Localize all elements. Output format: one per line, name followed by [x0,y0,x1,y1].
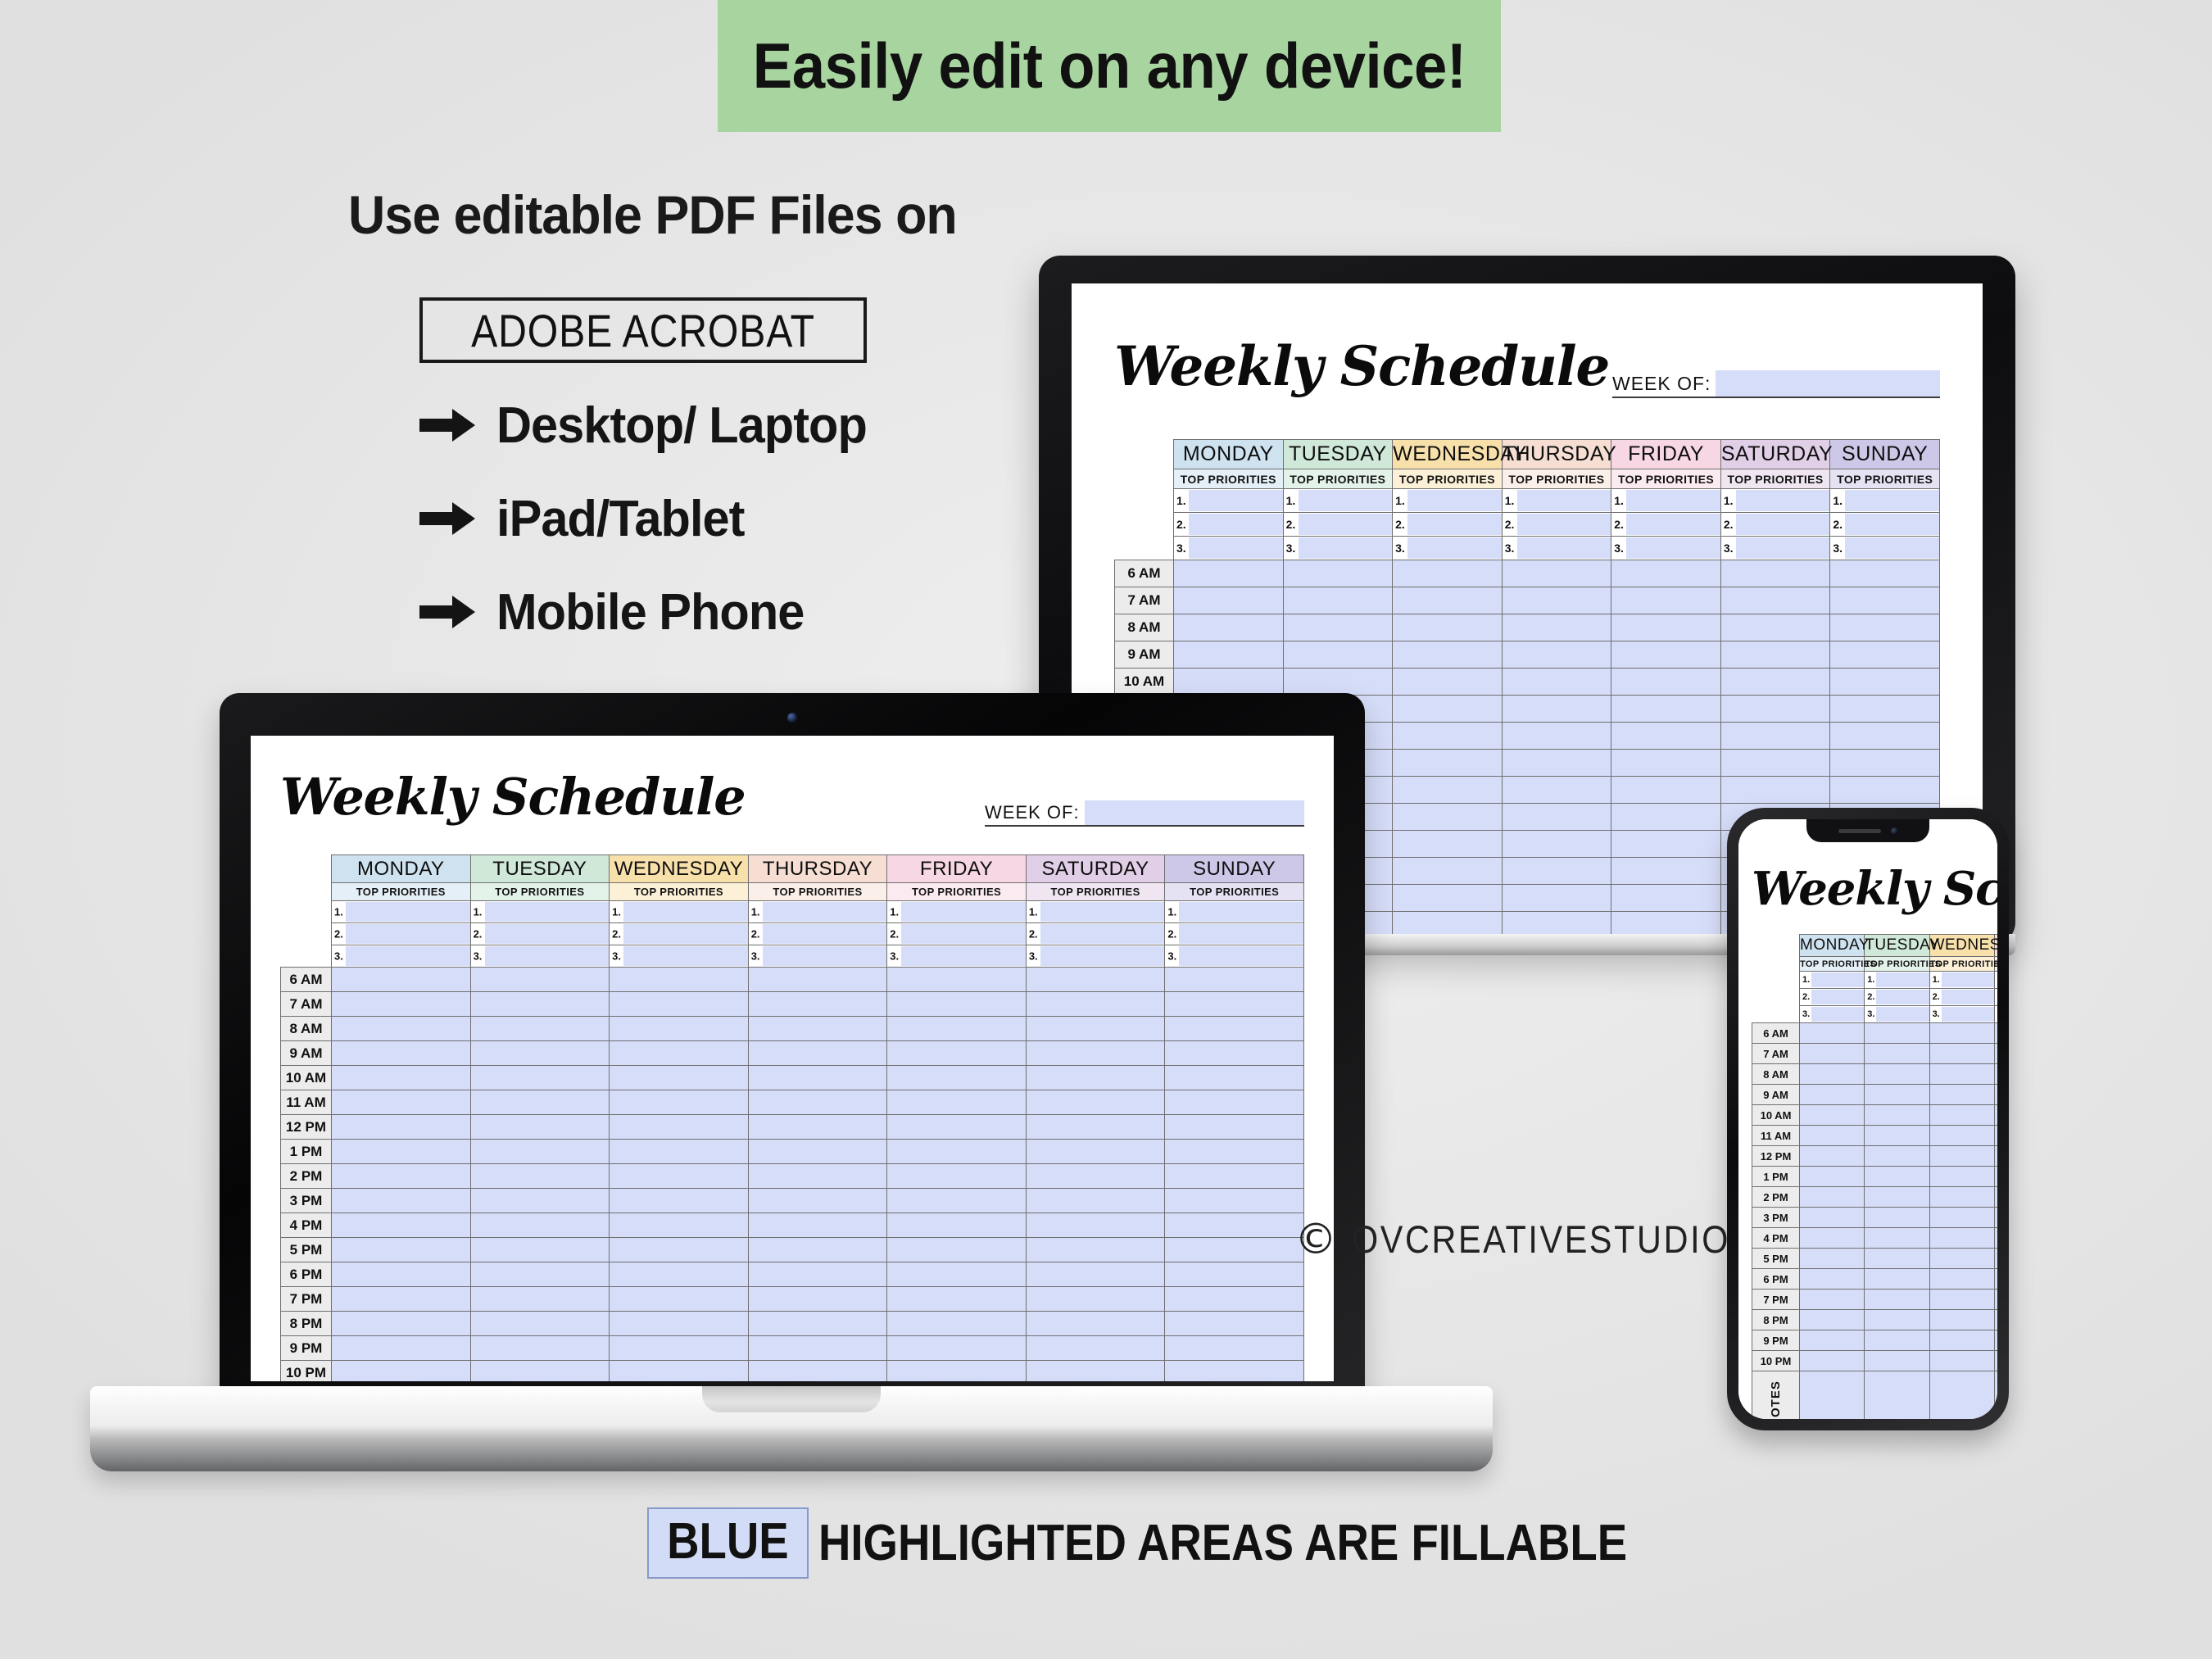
schedule-slot[interactable] [332,1238,471,1262]
schedule-slot[interactable] [748,1041,887,1066]
schedule-slot[interactable] [1611,831,1721,858]
schedule-slot[interactable] [1165,1238,1304,1262]
priority-input-cell[interactable]: 2. [1865,989,1929,1006]
schedule-slot[interactable] [470,968,610,992]
priority-input-cell[interactable]: 2. [1929,989,1994,1006]
schedule-slot[interactable] [1720,560,1830,587]
schedule-slot[interactable] [1502,614,1611,641]
schedule-slot[interactable] [470,1312,610,1336]
priority-input-cell[interactable]: 3. [887,945,1027,968]
priority-fill-area[interactable] [901,924,1026,944]
schedule-slot[interactable] [748,1189,887,1213]
schedule-slot[interactable] [887,1361,1027,1382]
schedule-slot[interactable] [1994,1146,1997,1167]
schedule-slot[interactable] [1393,641,1503,669]
schedule-slot[interactable] [1174,669,1284,696]
schedule-slot[interactable] [1994,1249,1997,1269]
priority-input-cell[interactable]: 2. [1611,513,1721,537]
schedule-slot[interactable] [1994,1228,1997,1249]
schedule-slot[interactable] [1865,1249,1929,1269]
priority-input-cell[interactable]: 3. [1174,537,1284,560]
priority-fill-area[interactable] [1299,514,1393,535]
schedule-slot[interactable] [470,1140,610,1164]
priority-input-cell[interactable]: 3. [1830,537,1940,560]
schedule-slot[interactable] [1165,1090,1304,1115]
schedule-slot[interactable] [1865,1228,1929,1249]
priority-fill-area[interactable] [1407,490,1502,511]
schedule-slot[interactable] [1929,1208,1994,1228]
priority-input-cell[interactable]: 3. [1165,945,1304,968]
priority-fill-area[interactable] [1040,946,1165,966]
schedule-slot[interactable] [1611,641,1721,669]
schedule-slot[interactable] [1502,669,1611,696]
schedule-slot[interactable] [332,1164,471,1189]
schedule-slot[interactable] [887,1115,1027,1140]
priority-input-cell[interactable]: 2. [748,923,887,945]
schedule-slot[interactable] [1865,1351,1929,1371]
priority-fill-area[interactable] [1736,537,1830,559]
schedule-slot[interactable] [1865,1064,1929,1085]
schedule-slot[interactable] [1393,614,1503,641]
priority-input-cell[interactable]: 1. [1929,972,1994,989]
priority-input-cell[interactable]: 1. [1800,972,1865,989]
priority-input-cell[interactable]: 2. [1720,513,1830,537]
priority-fill-area[interactable] [1179,902,1303,922]
priority-fill-area[interactable] [485,924,610,944]
schedule-slot[interactable] [1026,1238,1165,1262]
schedule-slot[interactable] [887,1189,1027,1213]
schedule-slot[interactable] [1994,1310,1997,1330]
schedule-slot[interactable] [1611,750,1721,777]
schedule-slot[interactable] [1865,1085,1929,1105]
schedule-slot[interactable] [1994,1105,1997,1126]
schedule-slot[interactable] [1929,1228,1994,1249]
schedule-slot[interactable] [1800,1044,1865,1064]
priority-input-cell[interactable]: 2. [887,923,1027,945]
priority-fill-area[interactable] [1811,990,1864,1004]
priority-input-cell[interactable]: 3. [1283,537,1393,560]
priority-fill-area[interactable] [623,946,748,966]
schedule-slot[interactable] [1800,1126,1865,1146]
schedule-slot[interactable] [610,1066,749,1090]
schedule-slot[interactable] [1502,641,1611,669]
schedule-slot[interactable] [610,1115,749,1140]
schedule-slot[interactable] [748,1262,887,1287]
schedule-slot[interactable] [1165,992,1304,1017]
schedule-slot[interactable] [470,1262,610,1287]
schedule-slot[interactable] [1283,614,1393,641]
schedule-slot[interactable] [1502,804,1611,831]
schedule-slot[interactable] [1174,641,1284,669]
priority-input-cell[interactable]: 2. [1165,923,1304,945]
schedule-slot[interactable] [332,1287,471,1312]
notes-slot[interactable] [1929,1371,1994,1420]
priority-fill-area[interactable] [901,946,1026,966]
schedule-slot[interactable] [1929,1310,1994,1330]
schedule-slot[interactable] [470,1041,610,1066]
schedule-slot[interactable] [332,1017,471,1041]
schedule-slot[interactable] [1026,1336,1165,1361]
priority-input-cell[interactable]: 3. [1502,537,1611,560]
schedule-slot[interactable] [1393,858,1503,885]
schedule-slot[interactable] [1994,1330,1997,1351]
priority-input-cell[interactable]: 1. [1830,489,1940,513]
schedule-slot[interactable] [1800,1064,1865,1085]
schedule-slot[interactable] [1865,1208,1929,1228]
priority-fill-area[interactable] [1942,990,1994,1004]
schedule-slot[interactable] [332,1090,471,1115]
schedule-slot[interactable] [1165,1140,1304,1164]
schedule-slot[interactable] [1283,641,1393,669]
priority-fill-area[interactable] [1040,902,1165,922]
priority-input-cell[interactable]: 3. [332,945,471,968]
schedule-slot[interactable] [1026,968,1165,992]
schedule-slot[interactable] [1611,777,1721,804]
priority-fill-area[interactable] [1942,972,1994,987]
priority-fill-area[interactable] [1517,537,1611,559]
schedule-slot[interactable] [1929,1290,1994,1310]
schedule-slot[interactable] [1994,1208,1997,1228]
schedule-slot[interactable] [1720,669,1830,696]
priority-fill-area[interactable] [1189,537,1283,559]
schedule-slot[interactable] [1929,1146,1994,1167]
schedule-slot[interactable] [1865,1126,1929,1146]
priority-input-cell[interactable]: 1. [887,901,1027,923]
schedule-slot[interactable] [1502,885,1611,912]
schedule-slot[interactable] [1393,587,1503,614]
schedule-slot[interactable] [887,1262,1027,1287]
schedule-slot[interactable] [1929,1167,1994,1187]
schedule-slot[interactable] [887,1090,1027,1115]
schedule-slot[interactable] [1283,669,1393,696]
priority-fill-area[interactable] [1179,946,1303,966]
priority-input-cell[interactable]: 3. [1611,537,1721,560]
schedule-slot[interactable] [1026,1361,1165,1382]
priority-input-cell[interactable]: 2. [332,923,471,945]
priority-fill-area[interactable] [1876,990,1929,1004]
schedule-slot[interactable] [1165,1115,1304,1140]
priority-input-cell[interactable]: 2. [1502,513,1611,537]
schedule-slot[interactable] [1865,1023,1929,1044]
schedule-slot[interactable] [1611,587,1721,614]
schedule-slot[interactable] [332,1262,471,1287]
schedule-slot[interactable] [1165,1189,1304,1213]
schedule-slot[interactable] [1502,723,1611,750]
priority-fill-area[interactable] [1845,537,1939,559]
schedule-slot[interactable] [748,1140,887,1164]
priority-fill-area[interactable] [346,946,470,966]
schedule-slot[interactable] [1026,1287,1165,1312]
schedule-slot[interactable] [1994,1187,1997,1208]
priority-input-cell[interactable]: 2. [1283,513,1393,537]
schedule-slot[interactable] [1929,1330,1994,1351]
priority-input-cell[interactable]: 2. [1026,923,1165,945]
schedule-slot[interactable] [610,1213,749,1238]
priority-fill-area[interactable] [1189,514,1283,535]
schedule-slot[interactable] [470,1066,610,1090]
schedule-slot[interactable] [1800,1187,1865,1208]
priority-fill-area[interactable] [1299,537,1393,559]
schedule-slot[interactable] [1165,968,1304,992]
priority-fill-area[interactable] [1811,972,1864,987]
schedule-slot[interactable] [1165,1287,1304,1312]
priority-fill-area[interactable] [1517,514,1611,535]
schedule-slot[interactable] [470,1238,610,1262]
schedule-slot[interactable] [470,1164,610,1189]
schedule-slot[interactable] [1393,750,1503,777]
schedule-slot[interactable] [1165,1336,1304,1361]
schedule-slot[interactable] [1800,1146,1865,1167]
schedule-slot[interactable] [1165,1164,1304,1189]
schedule-slot[interactable] [887,1066,1027,1090]
schedule-slot[interactable] [1994,1290,1997,1310]
schedule-slot[interactable] [1800,1167,1865,1187]
priority-fill-area[interactable] [1876,1007,1929,1022]
schedule-slot[interactable] [1994,1044,1997,1064]
schedule-slot[interactable] [1865,1290,1929,1310]
schedule-slot[interactable] [1174,587,1284,614]
schedule-slot[interactable] [1929,1249,1994,1269]
schedule-slot[interactable] [1994,1167,1997,1187]
schedule-slot[interactable] [1393,804,1503,831]
week-of-input[interactable] [1085,800,1304,825]
priority-input-cell[interactable]: 1. [470,901,610,923]
schedule-slot[interactable] [1026,1262,1165,1287]
schedule-slot[interactable] [1994,1126,1997,1146]
priority-fill-area[interactable] [1736,490,1830,511]
schedule-slot[interactable] [1830,777,1940,804]
priority-fill-area[interactable] [1040,924,1165,944]
schedule-slot[interactable] [610,1361,749,1382]
priority-fill-area[interactable] [346,924,470,944]
schedule-slot[interactable] [1393,696,1503,723]
schedule-slot[interactable] [470,992,610,1017]
schedule-slot[interactable] [1994,1085,1997,1105]
schedule-slot[interactable] [887,1312,1027,1336]
priority-input-cell[interactable]: 1. [1994,972,1997,989]
schedule-slot[interactable] [1174,614,1284,641]
schedule-slot[interactable] [332,968,471,992]
priority-input-cell[interactable]: 1. [1393,489,1503,513]
priority-input-cell[interactable]: 1. [332,901,471,923]
schedule-slot[interactable] [887,968,1027,992]
schedule-slot[interactable] [332,1361,471,1382]
schedule-slot[interactable] [610,1017,749,1041]
schedule-slot[interactable] [1929,1351,1994,1371]
schedule-slot[interactable] [332,992,471,1017]
priority-fill-area[interactable] [763,902,887,922]
priority-input-cell[interactable]: 3. [1800,1006,1865,1023]
schedule-slot[interactable] [1830,723,1940,750]
schedule-slot[interactable] [748,968,887,992]
priority-fill-area[interactable] [1407,514,1502,535]
schedule-slot[interactable] [1929,1044,1994,1064]
schedule-slot[interactable] [1165,1262,1304,1287]
schedule-slot[interactable] [1502,858,1611,885]
schedule-slot[interactable] [1502,750,1611,777]
schedule-slot[interactable] [1800,1351,1865,1371]
schedule-slot[interactable] [1611,614,1721,641]
priority-input-cell[interactable]: 2. [1800,989,1865,1006]
priority-input-cell[interactable]: 3. [748,945,887,968]
priority-fill-area[interactable] [1811,1007,1864,1022]
schedule-slot[interactable] [1865,1146,1929,1167]
schedule-slot[interactable] [748,1361,887,1382]
schedule-slot[interactable] [748,1336,887,1361]
priority-fill-area[interactable] [763,946,887,966]
priority-input-cell[interactable]: 3. [1929,1006,1994,1023]
priority-input-cell[interactable]: 1. [610,901,749,923]
schedule-slot[interactable] [748,1017,887,1041]
schedule-slot[interactable] [887,1140,1027,1164]
priority-fill-area[interactable] [1626,514,1720,535]
schedule-slot[interactable] [1865,1167,1929,1187]
priority-input-cell[interactable]: 3. [1393,537,1503,560]
schedule-slot[interactable] [1994,1023,1997,1044]
schedule-slot[interactable] [1865,1044,1929,1064]
priority-fill-area[interactable] [901,902,1026,922]
schedule-slot[interactable] [470,1287,610,1312]
schedule-slot[interactable] [1720,777,1830,804]
schedule-slot[interactable] [887,1164,1027,1189]
priority-fill-area[interactable] [623,902,748,922]
priority-fill-area[interactable] [346,902,470,922]
schedule-slot[interactable] [1720,614,1830,641]
schedule-slot[interactable] [1502,831,1611,858]
priority-fill-area[interactable] [485,946,610,966]
schedule-slot[interactable] [610,968,749,992]
schedule-slot[interactable] [1929,1023,1994,1044]
schedule-slot[interactable] [887,992,1027,1017]
priority-input-cell[interactable]: 3. [1994,1006,1997,1023]
priority-fill-area[interactable] [1736,514,1830,535]
schedule-slot[interactable] [1830,750,1940,777]
priority-fill-area[interactable] [1407,537,1502,559]
schedule-slot[interactable] [1026,992,1165,1017]
schedule-slot[interactable] [1800,1269,1865,1290]
schedule-slot[interactable] [332,1312,471,1336]
priority-fill-area[interactable] [1189,490,1283,511]
schedule-slot[interactable] [1830,614,1940,641]
priority-input-cell[interactable]: 1. [1165,901,1304,923]
schedule-slot[interactable] [610,1164,749,1189]
schedule-slot[interactable] [1929,1064,1994,1085]
schedule-slot[interactable] [610,992,749,1017]
schedule-slot[interactable] [1165,1213,1304,1238]
schedule-slot[interactable] [1026,1189,1165,1213]
schedule-slot[interactable] [1393,777,1503,804]
schedule-slot[interactable] [1026,1041,1165,1066]
week-of-input[interactable] [1716,370,1940,397]
schedule-slot[interactable] [1611,560,1721,587]
schedule-slot[interactable] [748,1066,887,1090]
schedule-slot[interactable] [1865,1105,1929,1126]
schedule-slot[interactable] [1611,669,1721,696]
schedule-slot[interactable] [1611,885,1721,912]
priority-fill-area[interactable] [1626,490,1720,511]
priority-input-cell[interactable]: 2. [470,923,610,945]
schedule-slot[interactable] [1502,777,1611,804]
schedule-slot[interactable] [1830,669,1940,696]
priority-input-cell[interactable]: 3. [1865,1006,1929,1023]
schedule-slot[interactable] [470,1361,610,1382]
schedule-slot[interactable] [332,1189,471,1213]
schedule-slot[interactable] [470,1336,610,1361]
schedule-slot[interactable] [470,1115,610,1140]
schedule-slot[interactable] [1830,560,1940,587]
schedule-slot[interactable] [1929,1187,1994,1208]
priority-input-cell[interactable]: 1. [1026,901,1165,923]
schedule-slot[interactable] [1393,885,1503,912]
schedule-slot[interactable] [1393,831,1503,858]
schedule-slot[interactable] [1865,1330,1929,1351]
schedule-slot[interactable] [1165,1312,1304,1336]
schedule-slot[interactable] [1800,1330,1865,1351]
schedule-slot[interactable] [610,1140,749,1164]
schedule-slot[interactable] [748,1164,887,1189]
schedule-slot[interactable] [1165,1041,1304,1066]
priority-fill-area[interactable] [763,924,887,944]
schedule-slot[interactable] [1393,669,1503,696]
priority-input-cell[interactable]: 1. [1611,489,1721,513]
schedule-slot[interactable] [887,1213,1027,1238]
schedule-slot[interactable] [1174,560,1284,587]
schedule-slot[interactable] [1929,1085,1994,1105]
priority-fill-area[interactable] [1845,514,1939,535]
notes-slot[interactable] [1994,1371,1997,1420]
schedule-slot[interactable] [1800,1228,1865,1249]
schedule-slot[interactable] [887,1238,1027,1262]
schedule-slot[interactable] [1865,1269,1929,1290]
schedule-slot[interactable] [610,1238,749,1262]
schedule-slot[interactable] [470,1213,610,1238]
schedule-slot[interactable] [1026,1312,1165,1336]
schedule-slot[interactable] [1720,587,1830,614]
schedule-slot[interactable] [1929,1105,1994,1126]
schedule-slot[interactable] [1720,696,1830,723]
schedule-slot[interactable] [1502,696,1611,723]
schedule-slot[interactable] [1611,858,1721,885]
schedule-slot[interactable] [748,1115,887,1140]
schedule-slot[interactable] [748,992,887,1017]
priority-fill-area[interactable] [485,902,610,922]
schedule-slot[interactable] [1929,1126,1994,1146]
schedule-slot[interactable] [1026,1140,1165,1164]
schedule-slot[interactable] [1800,1085,1865,1105]
priority-input-cell[interactable]: 1. [1720,489,1830,513]
schedule-slot[interactable] [1026,1090,1165,1115]
schedule-slot[interactable] [610,1262,749,1287]
schedule-slot[interactable] [1994,1064,1997,1085]
schedule-slot[interactable] [748,1213,887,1238]
schedule-slot[interactable] [1994,1351,1997,1371]
priority-input-cell[interactable]: 1. [1865,972,1929,989]
schedule-slot[interactable] [1830,587,1940,614]
schedule-slot[interactable] [1026,1115,1165,1140]
schedule-slot[interactable] [470,1189,610,1213]
priority-input-cell[interactable]: 2. [610,923,749,945]
schedule-slot[interactable] [1165,1066,1304,1090]
schedule-slot[interactable] [1865,1187,1929,1208]
schedule-slot[interactable] [1720,723,1830,750]
notes-slot[interactable] [1800,1371,1865,1420]
schedule-slot[interactable] [332,1336,471,1361]
priority-fill-area[interactable] [1299,490,1393,511]
schedule-slot[interactable] [470,1090,610,1115]
schedule-slot[interactable] [332,1066,471,1090]
schedule-slot[interactable] [1026,1213,1165,1238]
schedule-slot[interactable] [1026,1017,1165,1041]
